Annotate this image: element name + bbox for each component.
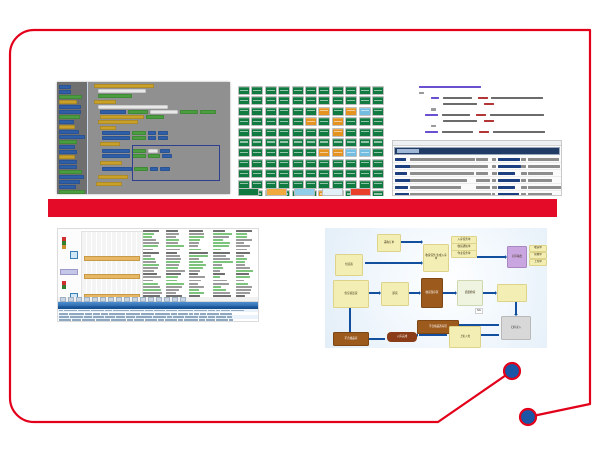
flow-node-sortarea[interactable]: 收货暂存区	[421, 278, 443, 308]
storage-cell[interactable]	[332, 138, 344, 147]
sheet-task-line	[236, 261, 246, 263]
storage-cell[interactable]	[332, 128, 344, 137]
workspace-block[interactable]	[200, 110, 216, 114]
status-grid-cells[interactable]	[238, 86, 384, 196]
workspace-block[interactable]	[98, 105, 168, 109]
storage-cell[interactable]	[372, 96, 384, 105]
blocks-palette[interactable]	[57, 82, 88, 194]
palette-block[interactable]	[59, 180, 80, 184]
sheet-task-line	[236, 242, 244, 244]
storage-cell[interactable]	[238, 107, 250, 116]
storage-cell[interactable]	[345, 159, 357, 168]
storage-cell[interactable]	[372, 138, 384, 147]
flow-node-supplier[interactable]: 供应商	[335, 254, 363, 276]
palette-block[interactable]	[59, 110, 81, 114]
palette-block[interactable]	[59, 165, 77, 169]
storage-cell[interactable]	[372, 190, 384, 196]
storage-cell[interactable]	[265, 117, 277, 126]
table-toolbar-button[interactable]	[116, 297, 122, 302]
storage-cell[interactable]	[251, 169, 263, 178]
storage-cell[interactable]	[318, 148, 330, 157]
sheet-task-line	[143, 230, 159, 232]
blocks-canvas[interactable]	[88, 82, 230, 194]
storage-cell[interactable]	[318, 169, 330, 178]
storage-cell[interactable]	[345, 128, 357, 137]
storage-cell[interactable]	[265, 148, 277, 157]
code-token	[443, 97, 472, 99]
sheet-task-line	[236, 252, 250, 254]
sheet-task-line	[236, 245, 250, 247]
sheet-task-column[interactable]	[166, 230, 187, 297]
storage-cell[interactable]	[372, 107, 384, 116]
sheet-task-line	[143, 276, 161, 278]
workspace-block[interactable]	[100, 115, 144, 119]
table-toolbar-button[interactable]	[76, 297, 82, 302]
sheet-task-line	[236, 286, 252, 288]
workspace-block[interactable]	[100, 161, 122, 165]
palette-block[interactable]	[59, 140, 77, 144]
workspace-block[interactable]	[98, 175, 128, 179]
table-toolbar-button[interactable]	[132, 297, 138, 302]
workspace-block[interactable]	[102, 167, 132, 171]
storage-cell[interactable]	[305, 148, 317, 157]
code-token	[442, 114, 471, 116]
storage-cell[interactable]	[305, 96, 317, 105]
flow-node-unload[interactable]: 卸货	[381, 282, 409, 306]
code-token	[431, 125, 436, 127]
storage-cell[interactable]	[278, 86, 290, 95]
palette-block[interactable]	[59, 135, 85, 139]
code-token	[484, 103, 494, 105]
flow-node-order[interactable]: 采购订单	[377, 234, 401, 252]
storage-cell[interactable]	[332, 169, 344, 178]
sheet-task-line	[189, 255, 207, 257]
sheet-task-line	[236, 292, 250, 294]
workspace-block[interactable]	[96, 182, 122, 186]
legend-swatch-pale	[322, 188, 343, 196]
storage-cell[interactable]	[318, 86, 330, 95]
panel-schedule-sheet[interactable]: Gantt bars, task cards and record table	[57, 228, 259, 322]
workspace-block[interactable]	[98, 89, 146, 93]
storage-cell[interactable]	[292, 159, 304, 168]
storage-cell[interactable]	[305, 128, 317, 137]
storage-cell[interactable]	[305, 138, 317, 147]
storage-cell[interactable]	[238, 86, 250, 95]
storage-cell[interactable]	[238, 117, 250, 126]
storage-cell[interactable]	[251, 96, 263, 105]
flow-node-out1[interactable]: 收货单	[529, 245, 547, 252]
sheet-task-column[interactable]	[189, 230, 210, 297]
flow-arrow	[419, 334, 447, 336]
sheet-task-line	[236, 249, 247, 251]
sheet-task-line	[166, 245, 184, 247]
table-toolbar-button[interactable]	[124, 297, 130, 302]
table-row[interactable]	[58, 319, 258, 322]
console-row-list[interactable]	[393, 156, 561, 196]
sheet-task-columns[interactable]	[143, 230, 257, 297]
storage-cell[interactable]	[265, 96, 277, 105]
workspace-block[interactable]	[102, 154, 130, 158]
storage-cell[interactable]	[278, 159, 290, 168]
storage-cell[interactable]	[278, 138, 290, 147]
workspace-block[interactable]	[148, 136, 156, 140]
storage-cell[interactable]	[292, 117, 304, 126]
panel-blocks-editor[interactable]: Visual block programming workspace	[57, 82, 230, 194]
status-grid-legend	[238, 188, 371, 196]
storage-cell[interactable]	[372, 128, 384, 137]
code-token	[425, 114, 438, 116]
sheet-task-line	[236, 258, 247, 260]
panel-status-grid[interactable]: Warehouse bin occupancy map	[238, 86, 384, 196]
storage-cell[interactable]	[292, 128, 304, 137]
table-toolbar-button[interactable]	[164, 297, 170, 302]
storage-cell[interactable]	[372, 169, 384, 178]
storage-cell[interactable]	[265, 169, 277, 178]
storage-cell[interactable]	[265, 128, 277, 137]
sheet-task-line	[166, 280, 177, 282]
storage-cell[interactable]	[292, 96, 304, 105]
storage-cell[interactable]	[305, 159, 317, 168]
storage-cell[interactable]	[292, 138, 304, 147]
sheet-task-line	[166, 292, 175, 294]
storage-cell[interactable]	[265, 86, 277, 95]
storage-cell[interactable]	[251, 148, 263, 157]
palette-block[interactable]	[59, 175, 84, 179]
storage-cell[interactable]	[305, 107, 317, 116]
sheet-task-line	[143, 280, 153, 282]
table-toolbar-button[interactable]	[156, 297, 162, 302]
storage-cell[interactable]	[238, 138, 250, 147]
code-editor[interactable]	[392, 84, 562, 138]
table-cell	[96, 319, 110, 321]
console-log-row[interactable]	[393, 177, 561, 184]
storage-cell[interactable]	[345, 107, 357, 116]
storage-cell[interactable]	[359, 159, 371, 168]
table-toolbar-button[interactable]	[140, 297, 146, 302]
console-log-row[interactable]	[393, 184, 561, 191]
milestone-node[interactable]	[70, 251, 78, 259]
palette-block[interactable]	[59, 150, 77, 154]
sheet-status-chip	[62, 245, 66, 249]
sheet-task-line	[213, 273, 225, 275]
sheet-task-line	[236, 280, 244, 282]
storage-cell[interactable]	[332, 86, 344, 95]
storage-cell[interactable]	[359, 117, 371, 126]
sheet-task-line	[143, 261, 156, 263]
flow-node-shelf[interactable]: 上架入位	[449, 326, 481, 348]
panel-logistics-flow[interactable]: NG 供应商采购订单收货任务 生成入库单入库任务单收货通知单作业任务单打印输出收…	[325, 228, 547, 348]
palette-block[interactable]	[59, 155, 75, 159]
workspace-block[interactable]	[94, 84, 154, 88]
workspace-block[interactable]	[102, 131, 130, 135]
storage-cell[interactable]	[278, 148, 290, 157]
storage-cell[interactable]	[265, 159, 277, 168]
storage-cell[interactable]	[318, 107, 330, 116]
sheet-task-line	[189, 280, 201, 282]
flow-arrow	[349, 308, 351, 332]
sheet-task-line	[143, 236, 152, 238]
table-toolbar-button[interactable]	[84, 297, 90, 302]
flow-node-printer[interactable]: 打印输出	[507, 246, 527, 268]
storage-cell[interactable]	[251, 107, 263, 116]
workspace-block[interactable]	[102, 136, 130, 140]
workspace-block[interactable]	[148, 131, 156, 135]
workspace-block[interactable]	[98, 120, 138, 124]
flow-node-label: 供应商送货	[345, 293, 358, 296]
palette-block[interactable]	[59, 125, 75, 129]
flow-node-barcode[interactable]	[497, 284, 527, 302]
sheet-task-line	[189, 230, 202, 232]
storage-cell[interactable]	[238, 128, 250, 137]
workspace-block[interactable]	[158, 136, 168, 140]
table-toolbar-button[interactable]	[172, 297, 178, 302]
storage-cell[interactable]	[251, 138, 263, 147]
gantt-bar[interactable]	[84, 256, 140, 261]
sheet-task-line	[166, 286, 181, 288]
storage-cell[interactable]	[265, 138, 277, 147]
storage-cell[interactable]	[332, 96, 344, 105]
storage-cell[interactable]	[318, 128, 330, 137]
storage-cell[interactable]	[359, 86, 371, 95]
flow-node-label: 收货任务 生成入库单	[424, 255, 448, 260]
table-cell	[59, 319, 71, 321]
record-table[interactable]	[58, 297, 258, 321]
workspace-block[interactable]	[150, 110, 178, 114]
table-toolbar-button[interactable]	[92, 297, 98, 302]
flow-node-doclist3[interactable]: 作业任务单	[451, 250, 477, 258]
table-cell	[105, 316, 115, 318]
storage-cell[interactable]	[305, 117, 317, 126]
sheet-task-line	[189, 233, 203, 235]
storage-cell[interactable]	[318, 159, 330, 168]
storage-cell[interactable]	[372, 148, 384, 157]
storage-cell[interactable]	[318, 117, 330, 126]
palette-block[interactable]	[59, 160, 77, 164]
console-log-row[interactable]	[393, 170, 561, 177]
storage-cell[interactable]	[332, 117, 344, 126]
flow-node-out2[interactable]: 验收单	[529, 252, 547, 259]
sheet-task-line	[213, 280, 227, 282]
palette-block[interactable]	[59, 190, 85, 194]
sheet-task-column[interactable]	[143, 230, 164, 297]
sheet-task-line	[143, 252, 159, 254]
storage-cell[interactable]	[345, 138, 357, 147]
storage-cell[interactable]	[292, 169, 304, 178]
console-log-row[interactable]	[393, 156, 561, 163]
storage-cell[interactable]	[251, 86, 263, 95]
palette-block[interactable]	[59, 100, 77, 104]
storage-cell[interactable]	[359, 169, 371, 178]
workspace-block[interactable]	[102, 149, 130, 153]
table-toolbar-button[interactable]	[180, 297, 186, 302]
table-toolbar-button[interactable]	[108, 297, 114, 302]
sheet-task-line	[143, 239, 156, 241]
table-toolbar-button[interactable]	[100, 297, 106, 302]
storage-cell[interactable]	[318, 96, 330, 105]
workspace-block[interactable]	[128, 110, 148, 114]
table-cell	[85, 313, 92, 315]
selected-block-outline	[132, 145, 220, 181]
workspace-block[interactable]	[98, 94, 132, 98]
sheet-task-line	[143, 270, 154, 272]
console-toolbar[interactable]	[393, 141, 561, 146]
storage-cell[interactable]	[292, 107, 304, 116]
palette-block[interactable]	[59, 130, 79, 134]
code-token	[425, 131, 438, 133]
sheet-task-column[interactable]	[213, 230, 234, 297]
table-cell	[165, 319, 177, 321]
storage-cell[interactable]	[278, 169, 290, 178]
palette-block[interactable]	[59, 120, 74, 124]
code-token	[443, 103, 477, 105]
sheet-task-line	[143, 258, 155, 260]
storage-cell[interactable]	[372, 180, 384, 189]
panel-code-console[interactable]: Java source and runtime log output	[392, 84, 562, 196]
storage-cell[interactable]	[305, 169, 317, 178]
flow-node-done[interactable]: 入库完成	[387, 332, 417, 342]
palette-block[interactable]	[59, 105, 81, 109]
flow-node-inspect[interactable]: 质量检验	[457, 280, 483, 306]
sheet-task-line	[166, 270, 185, 272]
table-toolbar-button[interactable]	[60, 297, 66, 302]
workspace-block[interactable]	[100, 126, 116, 130]
flow-arrow	[367, 338, 385, 340]
flow-arrow	[443, 292, 455, 294]
table-cell	[69, 313, 84, 315]
storage-cell[interactable]	[238, 96, 250, 105]
storage-cell[interactable]	[278, 117, 290, 126]
sheet-task-line	[143, 289, 161, 291]
table-cell	[158, 319, 165, 321]
code-token	[442, 131, 473, 133]
storage-cell[interactable]	[359, 148, 371, 157]
sheet-task-line	[236, 267, 250, 269]
storage-cell[interactable]	[372, 86, 384, 95]
palette-block[interactable]	[59, 90, 71, 94]
workspace-block[interactable]	[180, 110, 198, 114]
sheet-task-line	[189, 261, 203, 263]
flow-node-label: 打印输出	[512, 256, 522, 259]
storage-cell[interactable]	[278, 128, 290, 137]
flow-node-reject-store[interactable]: 不合格品库	[333, 332, 369, 346]
workspace-block[interactable]	[94, 100, 116, 104]
flow-node-out3[interactable]: 上架单	[529, 259, 547, 266]
storage-cell[interactable]	[332, 148, 344, 157]
palette-block[interactable]	[59, 85, 71, 89]
flow-node-label: 上架单	[534, 261, 542, 264]
storage-cell[interactable]	[318, 138, 330, 147]
flow-node-label: 卸货	[392, 293, 397, 296]
table-cell	[126, 316, 135, 318]
storage-cell[interactable]	[292, 148, 304, 157]
sheet-task-line	[189, 245, 197, 247]
table-cell	[207, 313, 219, 315]
storage-cell[interactable]	[305, 86, 317, 95]
storage-cell[interactable]	[251, 117, 263, 126]
sheet-task-line	[213, 233, 232, 235]
sheet-task-line	[166, 267, 178, 269]
storage-cell[interactable]	[251, 128, 263, 137]
sheet-task-line	[166, 264, 179, 266]
storage-cell[interactable]	[372, 117, 384, 126]
console-log-row[interactable]	[393, 163, 561, 170]
flow-node-system[interactable]: 收货任务 生成入库单	[423, 244, 449, 272]
code-token	[493, 131, 545, 133]
storage-cell[interactable]	[359, 96, 371, 105]
table-toolbar-button[interactable]	[68, 297, 74, 302]
storage-cell[interactable]	[372, 159, 384, 168]
storage-cell[interactable]	[345, 169, 357, 178]
gantt-bar[interactable]	[84, 274, 140, 279]
workspace-block[interactable]	[132, 131, 146, 135]
storage-cell[interactable]	[359, 138, 371, 147]
storage-cell[interactable]	[345, 86, 357, 95]
storage-cell[interactable]	[278, 96, 290, 105]
sheet-task-line	[213, 264, 222, 266]
workspace-block[interactable]	[100, 110, 126, 114]
palette-block[interactable]	[59, 170, 82, 174]
palette-block[interactable]	[59, 95, 82, 99]
storage-cell[interactable]	[278, 107, 290, 116]
workspace-block[interactable]	[158, 131, 168, 135]
sheet-task-line	[213, 283, 230, 285]
storage-cell[interactable]	[332, 159, 344, 168]
storage-cell[interactable]	[345, 96, 357, 105]
table-toolbar-button[interactable]	[148, 297, 154, 302]
sheet-task-line	[166, 276, 177, 278]
sheet-task-line	[143, 255, 151, 257]
palette-block[interactable]	[59, 115, 80, 119]
log-console[interactable]	[392, 140, 562, 196]
flow-node-label: 不合格品库	[345, 338, 358, 341]
table-cell	[109, 313, 124, 315]
storage-cell[interactable]	[238, 169, 250, 178]
storage-cell[interactable]	[332, 107, 344, 116]
accent-dot-lower	[520, 409, 536, 425]
code-token	[479, 131, 489, 133]
palette-block[interactable]	[59, 185, 76, 189]
workspace-block[interactable]	[100, 142, 120, 146]
record-table-rows[interactable]	[58, 309, 258, 322]
flow-node-label: 作业任务单	[458, 253, 471, 256]
sheet-task-line	[143, 233, 154, 235]
flow-node-scanin[interactable]: 扫码录入	[501, 316, 531, 340]
sheet-task-column[interactable]	[236, 230, 257, 297]
storage-cell[interactable]	[265, 107, 277, 116]
storage-cell[interactable]	[251, 159, 263, 168]
table-cell	[184, 319, 198, 321]
sheet-task-line	[189, 267, 202, 269]
table-cell	[185, 316, 198, 318]
workspace-block[interactable]	[132, 136, 146, 140]
storage-cell[interactable]	[292, 86, 304, 95]
workspace-block[interactable]	[146, 115, 164, 119]
sheet-task-line	[213, 236, 230, 238]
sheet-task-line	[236, 255, 244, 257]
storage-cell[interactable]	[238, 159, 250, 168]
console-header-row[interactable]	[394, 147, 560, 155]
flow-node-truck[interactable]: 供应商送货	[333, 280, 369, 308]
flow-arrow	[477, 256, 505, 258]
storage-cell[interactable]	[345, 117, 357, 126]
storage-cell[interactable]	[238, 148, 250, 157]
console-log-row[interactable]	[393, 191, 561, 196]
storage-cell[interactable]	[359, 107, 371, 116]
storage-cell[interactable]	[345, 148, 357, 157]
storage-cell[interactable]	[359, 128, 371, 137]
table-cell	[229, 319, 233, 321]
palette-block[interactable]	[59, 145, 75, 149]
